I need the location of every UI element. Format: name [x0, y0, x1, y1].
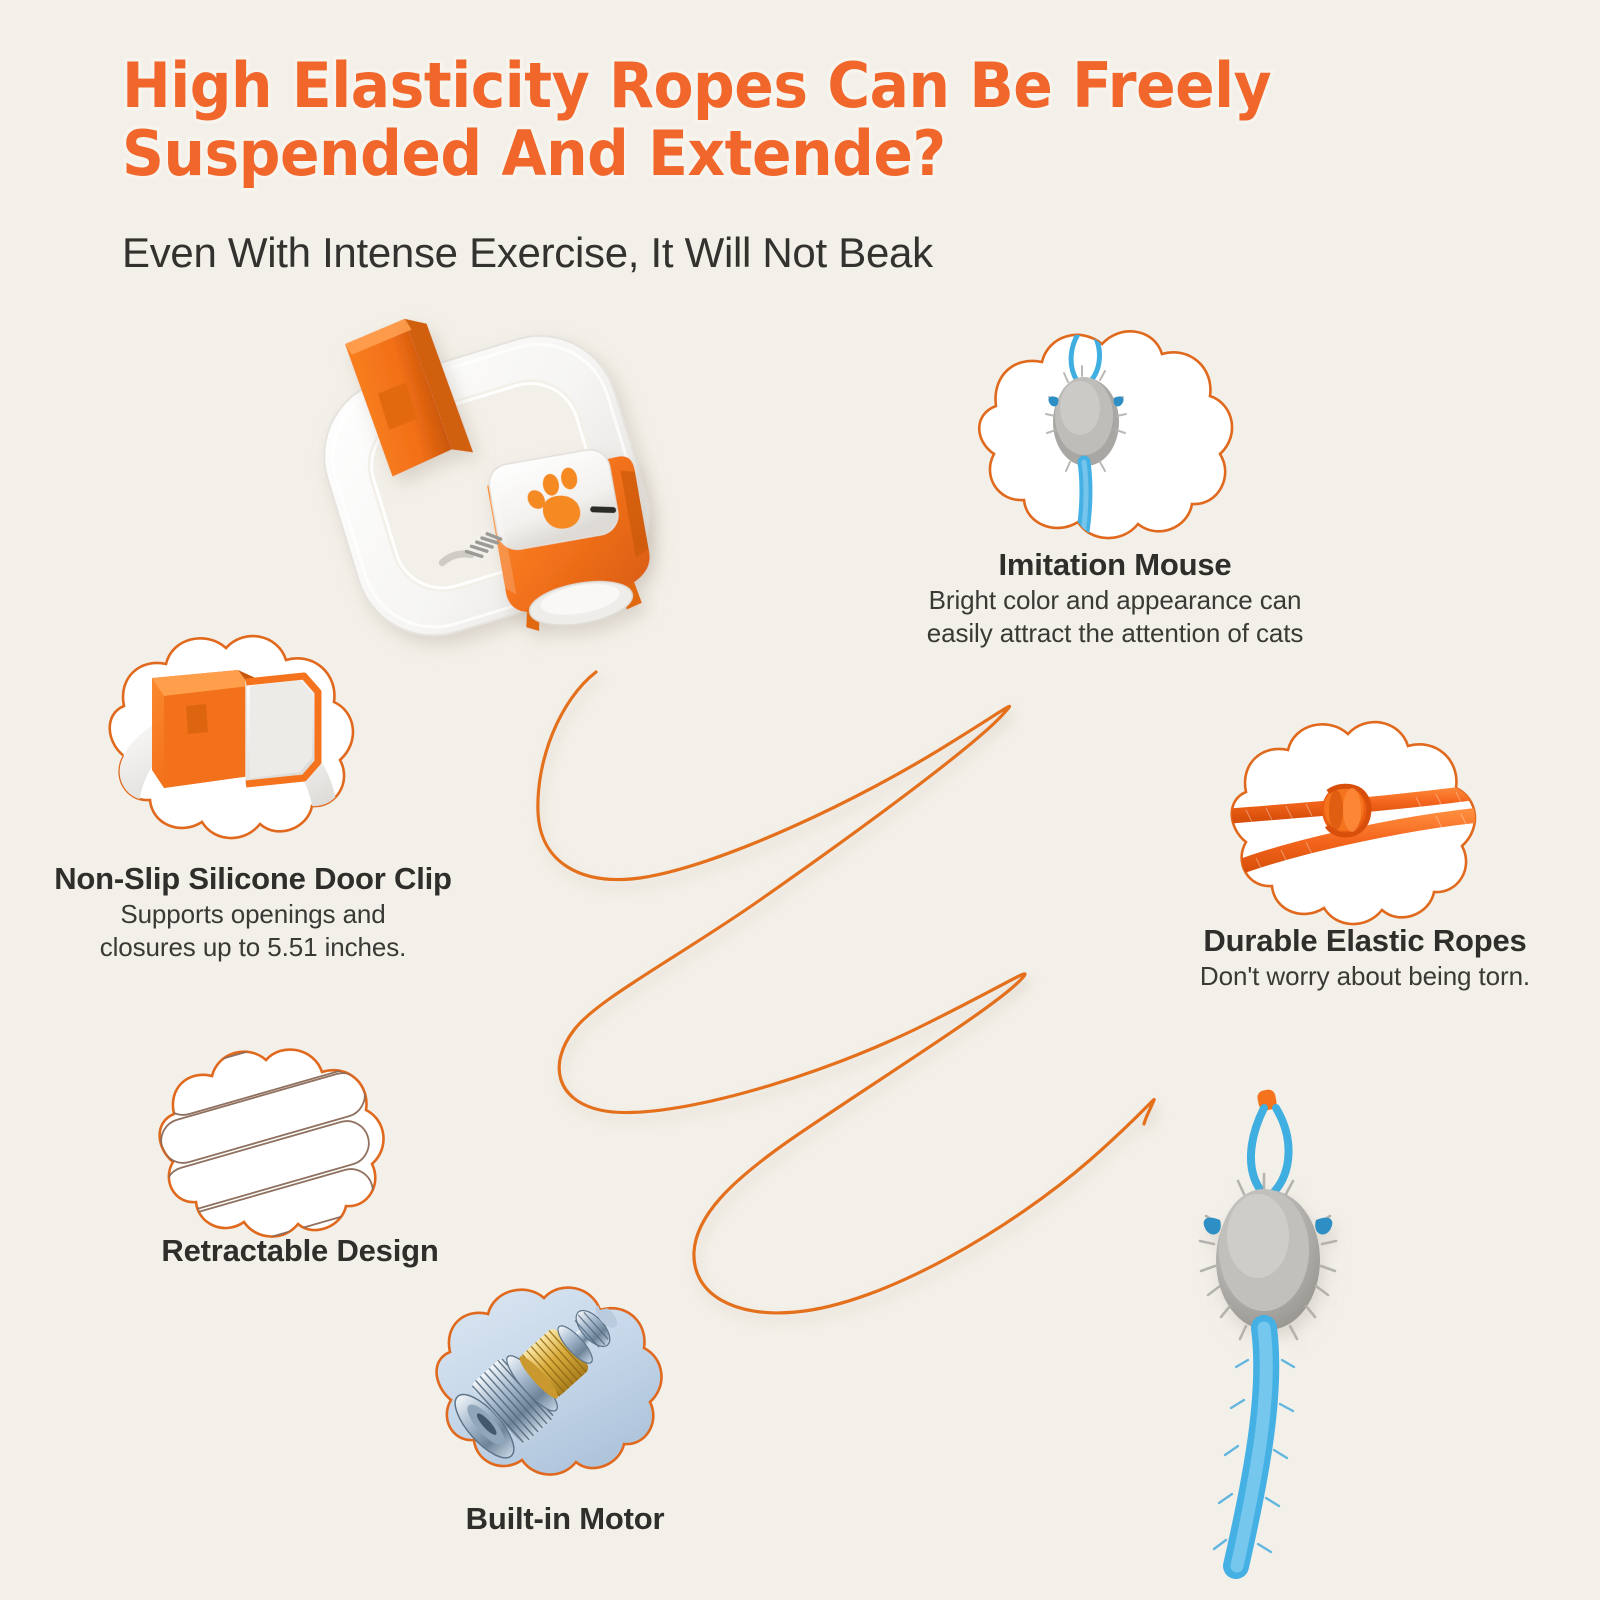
- plush-mouse-toy-large: [1140, 1060, 1440, 1580]
- feature-bubble-imitation-mouse: [918, 310, 1258, 560]
- caption-title-door-clip: Non-Slip Silicone Door Clip: [18, 860, 488, 898]
- headline-line-1: High Elasticity Ropes Can Be Freely: [122, 52, 1306, 120]
- caption-title-retractable-design: Retractable Design: [100, 1232, 500, 1270]
- caption-desc-imitation-mouse-line2: easily attract the attention of cats: [880, 617, 1350, 650]
- caption-door-clip: Non-Slip Silicone Door Clip Supports ope…: [18, 860, 488, 964]
- feature-bubble-retractable-design: [128, 1026, 378, 1251]
- caption-title-elastic-ropes: Durable Elastic Ropes: [1140, 922, 1590, 960]
- caption-title-imitation-mouse: Imitation Mouse: [880, 546, 1350, 584]
- feature-bubble-built-in-motor: [398, 1266, 678, 1496]
- caption-imitation-mouse: Imitation Mouse Bright color and appeara…: [880, 546, 1350, 650]
- caption-desc-door-clip-line1: Supports openings and: [18, 898, 488, 931]
- headline-block: High Elasticity Ropes Can Be Freely Susp…: [122, 52, 1382, 188]
- headline-subtitle: Even With Intense Exercise, It Will Not …: [122, 228, 933, 278]
- feature-bubble-elastic-ropes: [1186, 700, 1516, 940]
- caption-title-built-in-motor: Built-in Motor: [390, 1500, 740, 1538]
- caption-desc-elastic-ropes-line1: Don't worry about being torn.: [1140, 960, 1590, 993]
- feature-bubble-door-clip: [60, 610, 380, 870]
- caption-desc-door-clip-line2: closures up to 5.51 inches.: [18, 931, 488, 964]
- caption-retractable-design: Retractable Design: [100, 1232, 500, 1270]
- infographic-canvas: High Elasticity Ropes Can Be Freely Susp…: [0, 0, 1600, 1600]
- caption-elastic-ropes: Durable Elastic Ropes Don't worry about …: [1140, 922, 1590, 993]
- caption-built-in-motor: Built-in Motor: [390, 1500, 740, 1538]
- caption-desc-imitation-mouse-line1: Bright color and appearance can: [880, 584, 1350, 617]
- headline-line-2: Suspended And Extende?: [122, 120, 1306, 188]
